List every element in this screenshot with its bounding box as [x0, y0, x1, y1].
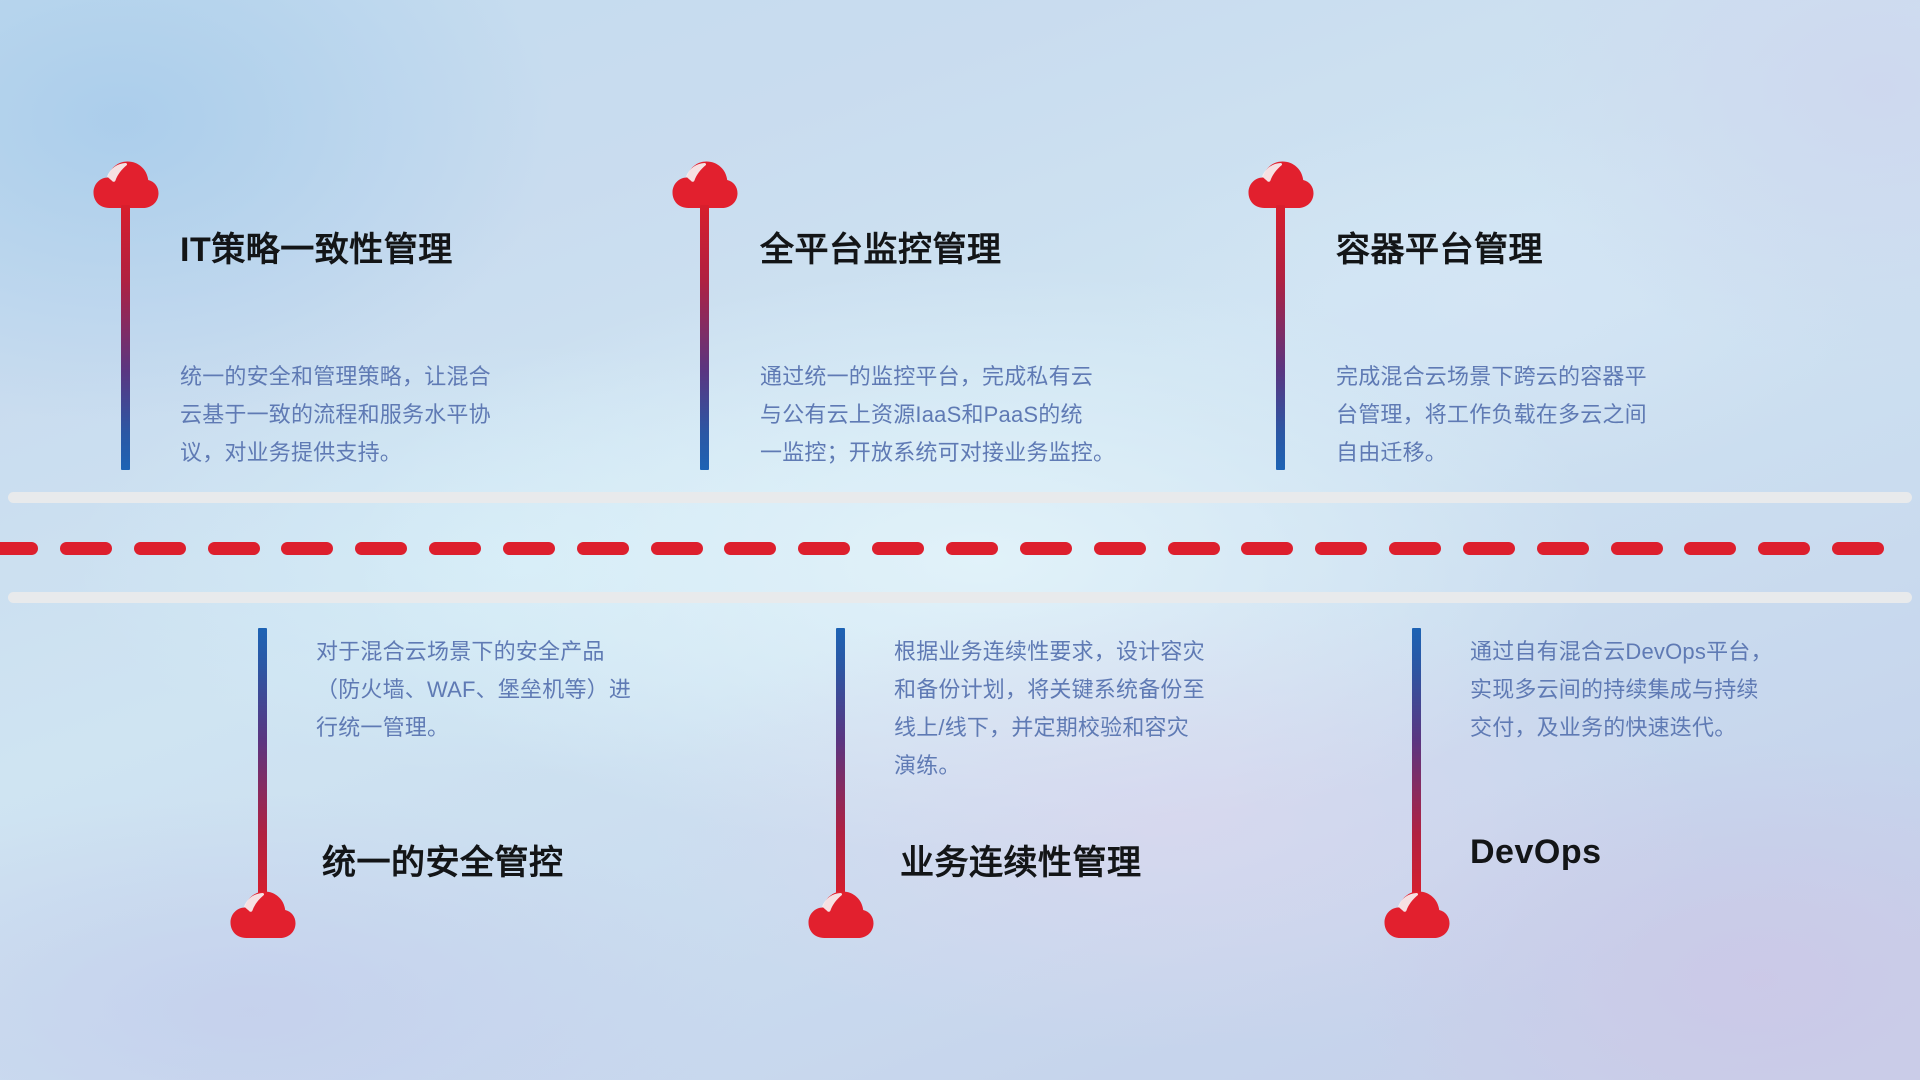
cloud-icon	[1384, 890, 1450, 940]
body-line: 台管理，将工作负载在多云之间	[1336, 396, 1771, 434]
card-body: 完成混合云场景下跨云的容器平 台管理，将工作负载在多云之间 自由迁移。	[1336, 358, 1771, 472]
connector-stem	[121, 205, 130, 470]
body-line: 自由迁移。	[1336, 434, 1771, 472]
card-body: 统一的安全和管理策略，让混合 云基于一致的流程和服务水平协 议，对业务提供支持。	[180, 358, 600, 472]
cloud-icon	[1248, 160, 1314, 210]
top-rule	[8, 492, 1912, 503]
body-line: 通过统一的监控平台，完成私有云	[760, 358, 1205, 396]
body-line: 完成混合云场景下跨云的容器平	[1336, 358, 1771, 396]
rule-dash	[503, 542, 555, 555]
rule-dash	[355, 542, 407, 555]
body-line: 云基于一致的流程和服务水平协	[180, 396, 600, 434]
card-title: 全平台监控管理	[760, 222, 1002, 271]
connector-stem	[836, 628, 845, 898]
rule-dash	[281, 542, 333, 555]
connector-stem	[700, 205, 709, 470]
body-line: 通过自有混合云DevOps平台，	[1470, 633, 1890, 671]
body-line: 一监控；开放系统可对接业务监控。	[760, 434, 1205, 472]
card-body: 对于混合云场景下的安全产品 （防火墙、WAF、堡垒机等）进 行统一管理。	[316, 633, 736, 747]
rule-dash	[1241, 542, 1293, 555]
card-body: 根据业务连续性要求，设计容灾 和备份计划，将关键系统备份至 线上/线下，并定期校…	[894, 633, 1319, 785]
rule-dash	[208, 542, 260, 555]
connector-stem	[1412, 628, 1421, 898]
rule-dash	[1463, 542, 1515, 555]
cloud-icon	[808, 890, 874, 940]
infographic-canvas: IT策略一致性管理 统一的安全和管理策略，让混合 云基于一致的流程和服务水平协 …	[0, 0, 1920, 1080]
rule-dash	[1315, 542, 1367, 555]
body-line: 与公有云上资源IaaS和PaaS的统	[760, 396, 1205, 434]
rule-dash	[1537, 542, 1589, 555]
rule-dash	[651, 542, 703, 555]
cloud-icon	[672, 160, 738, 210]
body-line: 统一的安全和管理策略，让混合	[180, 358, 600, 396]
rule-dash	[60, 542, 112, 555]
connector-stem	[1276, 205, 1285, 470]
rule-dash	[1168, 542, 1220, 555]
body-line: 实现多云间的持续集成与持续	[1470, 671, 1890, 709]
card-title: 业务连续性管理	[900, 835, 1142, 884]
rule-dash	[1611, 542, 1663, 555]
rule-dash	[429, 542, 481, 555]
rule-dash	[577, 542, 629, 555]
connector-stem	[258, 628, 267, 898]
body-line: 和备份计划，将关键系统备份至	[894, 671, 1319, 709]
rule-dash	[1684, 542, 1736, 555]
rule-dash	[0, 542, 38, 555]
body-line: 对于混合云场景下的安全产品	[316, 633, 736, 671]
rule-dash	[798, 542, 850, 555]
card-title: IT策略一致性管理	[180, 222, 453, 271]
rule-dash	[1832, 542, 1884, 555]
body-line: 交付，及业务的快速迭代。	[1470, 709, 1890, 747]
card-body: 通过自有混合云DevOps平台， 实现多云间的持续集成与持续 交付，及业务的快速…	[1470, 633, 1890, 747]
rule-dash	[946, 542, 998, 555]
body-line: 根据业务连续性要求，设计容灾	[894, 633, 1319, 671]
rule-dash	[1094, 542, 1146, 555]
rule-dash	[872, 542, 924, 555]
rule-dash	[1020, 542, 1072, 555]
dashed-red-rule	[0, 542, 1920, 555]
body-line: 行统一管理。	[316, 709, 736, 747]
rule-dash	[1758, 542, 1810, 555]
rule-dash	[1389, 542, 1441, 555]
cloud-icon	[230, 890, 296, 940]
bottom-rule	[8, 592, 1912, 603]
card-title: DevOps	[1470, 833, 1602, 872]
card-title: 统一的安全管控	[322, 835, 564, 884]
card-title: 容器平台管理	[1336, 222, 1543, 271]
cloud-icon	[93, 160, 159, 210]
body-line: 演练。	[894, 747, 1319, 785]
rule-dash	[134, 542, 186, 555]
card-body: 通过统一的监控平台，完成私有云 与公有云上资源IaaS和PaaS的统 一监控；开…	[760, 358, 1205, 472]
body-line: （防火墙、WAF、堡垒机等）进	[316, 671, 736, 709]
body-line: 线上/线下，并定期校验和容灾	[894, 709, 1319, 747]
rule-dash	[724, 542, 776, 555]
body-line: 议，对业务提供支持。	[180, 434, 600, 472]
